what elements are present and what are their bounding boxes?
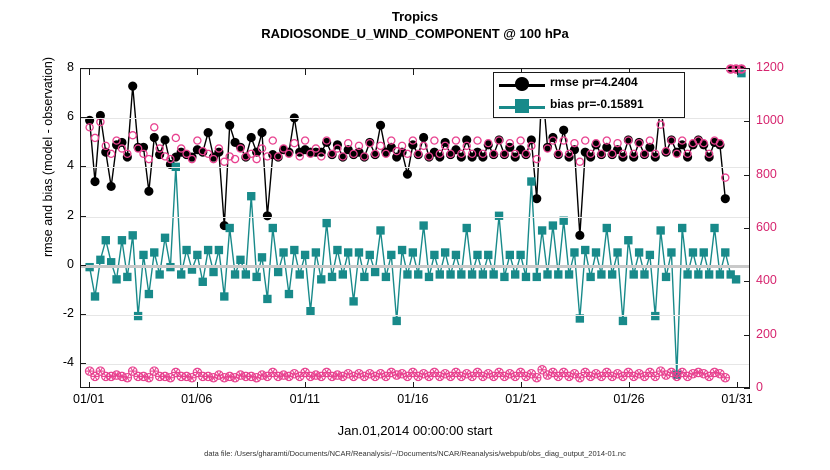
y-tick-mark-left bbox=[80, 363, 86, 364]
y-tick-mark-left bbox=[80, 216, 86, 217]
y-tick-mark-left bbox=[80, 265, 86, 266]
y-tick-left: 2 bbox=[36, 208, 74, 222]
x-tick-mark-top bbox=[197, 69, 198, 75]
x-tick-mark bbox=[521, 382, 522, 388]
data-file-note: data file: /Users/gharamti/Documents/NCA… bbox=[0, 449, 830, 458]
gridline bbox=[81, 217, 749, 218]
x-tick-mark bbox=[737, 382, 738, 388]
x-tick-mark bbox=[89, 382, 90, 388]
y-tick-right: 1000 bbox=[756, 113, 802, 127]
x-tick-label: 01/26 bbox=[599, 392, 659, 406]
chart-page: Tropics RADIOSONDE_U_WIND_COMPONENT @ 10… bbox=[0, 0, 830, 470]
x-tick-mark-top bbox=[305, 69, 306, 75]
x-axis-label: Jan.01,2014 00:00:00 start bbox=[80, 423, 750, 438]
y-tick-mark-right bbox=[744, 121, 750, 122]
y-tick-mark-left bbox=[80, 68, 86, 69]
x-tick-label: 01/21 bbox=[491, 392, 551, 406]
y-tick-mark-right bbox=[744, 281, 750, 282]
legend-label: bias pr=-0.15891 bbox=[550, 97, 644, 111]
legend-item-2[interactable]: bias pr=-0.15891 bbox=[494, 95, 684, 117]
y-tick-mark-right bbox=[744, 228, 750, 229]
y-tick-mark-right bbox=[744, 175, 750, 176]
y-tick-mark-right bbox=[744, 388, 750, 389]
chart-title-block: Tropics RADIOSONDE_U_WIND_COMPONENT @ 10… bbox=[0, 8, 830, 43]
y-tick-right: 400 bbox=[756, 273, 802, 287]
page-title: Tropics bbox=[0, 8, 830, 25]
y-tick-mark-right bbox=[744, 68, 750, 69]
x-tick-mark-top bbox=[737, 69, 738, 75]
y-tick-right: 200 bbox=[756, 327, 802, 341]
x-tick-mark bbox=[629, 382, 630, 388]
gridline bbox=[81, 364, 749, 365]
gridline bbox=[81, 69, 749, 70]
x-tick-label: 01/31 bbox=[707, 392, 767, 406]
x-tick-mark bbox=[305, 382, 306, 388]
x-tick-mark bbox=[197, 382, 198, 388]
square-marker-icon bbox=[515, 99, 529, 113]
y-tick-left: 8 bbox=[36, 60, 74, 74]
y-tick-right: 1200 bbox=[756, 60, 802, 74]
y-tick-mark-left bbox=[80, 117, 86, 118]
y-tick-left: 6 bbox=[36, 109, 74, 123]
legend: rmse pr=4.2404bias pr=-0.15891 bbox=[493, 72, 685, 118]
x-tick-mark-top bbox=[89, 69, 90, 75]
y-tick-right: 600 bbox=[756, 220, 802, 234]
gridline bbox=[81, 118, 749, 119]
gridline bbox=[81, 315, 749, 316]
x-tick-label: 01/16 bbox=[383, 392, 443, 406]
y-tick-mark-right bbox=[744, 335, 750, 336]
x-tick-label: 01/01 bbox=[59, 392, 119, 406]
x-tick-label: 01/06 bbox=[167, 392, 227, 406]
circle-marker-icon bbox=[515, 77, 529, 91]
y-tick-left: -4 bbox=[36, 355, 74, 369]
legend-item-1[interactable]: rmse pr=4.2404 bbox=[494, 73, 684, 95]
gridline bbox=[81, 167, 749, 168]
y-tick-left: 0 bbox=[36, 257, 74, 271]
y-tick-left: -2 bbox=[36, 306, 74, 320]
x-tick-mark bbox=[413, 382, 414, 388]
x-tick-mark-top bbox=[413, 69, 414, 75]
y-tick-left: 4 bbox=[36, 158, 74, 172]
zero-line bbox=[81, 265, 749, 268]
y-tick-mark-left bbox=[80, 166, 86, 167]
y-tick-right: 800 bbox=[756, 167, 802, 181]
page-subtitle: RADIOSONDE_U_WIND_COMPONENT @ 100 hPa bbox=[0, 25, 830, 43]
y-tick-mark-left bbox=[80, 314, 86, 315]
legend-label: rmse pr=4.2404 bbox=[550, 75, 638, 89]
x-tick-label: 01/11 bbox=[275, 392, 335, 406]
